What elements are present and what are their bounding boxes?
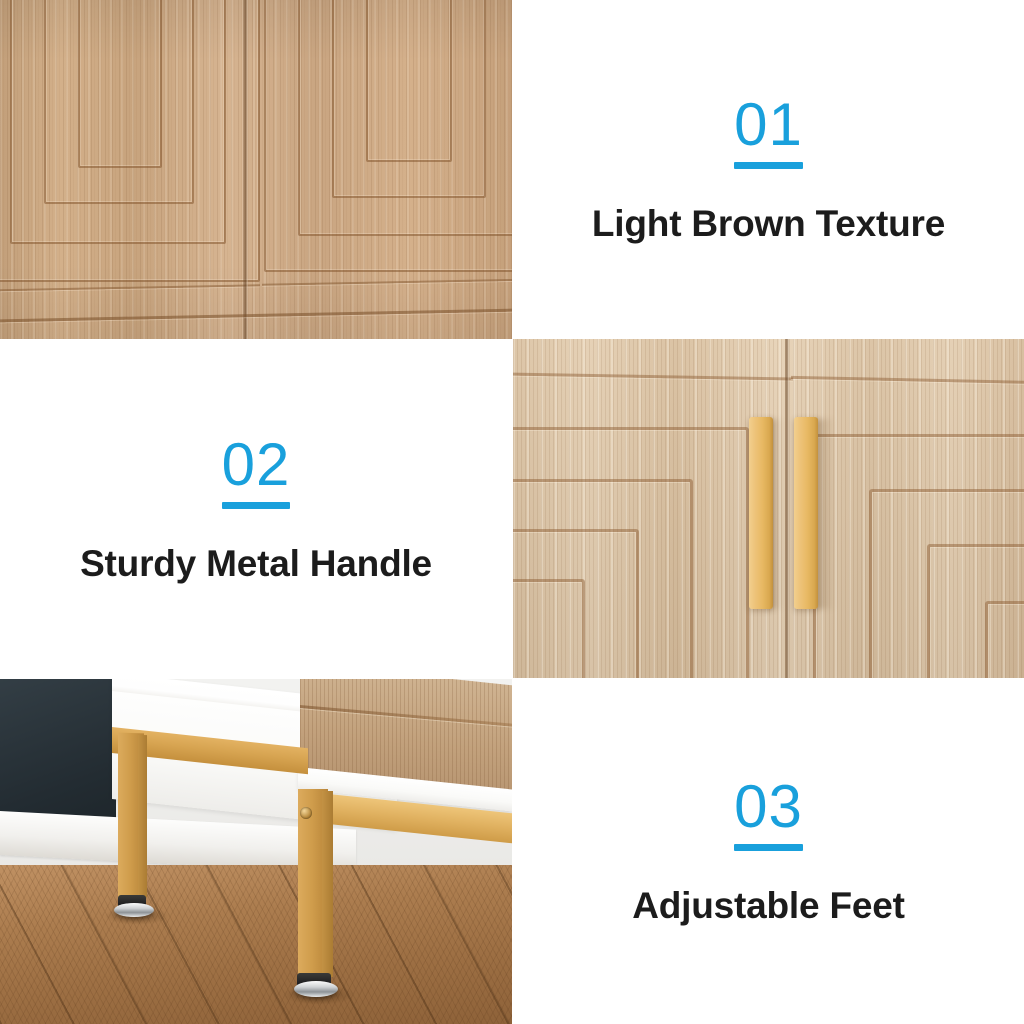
feature-number-block-01: 01 — [734, 95, 803, 169]
product-feature-infographic: 01 Light Brown Texture 02 Sturdy Metal H… — [0, 0, 1024, 1024]
cabinet-leg-front-side — [322, 791, 333, 977]
feature-title-02: Sturdy Metal Handle — [80, 543, 432, 584]
door-center-seam — [785, 339, 789, 678]
feature-number-underline-02 — [222, 502, 291, 509]
feature-title-01: Light Brown Texture — [592, 203, 945, 244]
handle-left — [749, 417, 773, 609]
handle-right-shadow — [816, 419, 834, 609]
wall-navy-accent — [0, 679, 116, 825]
feature-card-01: 01 Light Brown Texture — [513, 0, 1024, 339]
feature-number-03: 03 — [734, 777, 803, 837]
handle-groove-step4-right — [985, 601, 1024, 678]
feature-number-01: 01 — [734, 95, 803, 155]
handle-groove-step4-left — [513, 579, 585, 678]
feature-number-underline-03 — [734, 844, 803, 851]
feature-number-02: 02 — [222, 435, 291, 495]
herringbone-floor — [0, 865, 512, 1024]
feature-card-02: 02 Sturdy Metal Handle — [0, 340, 512, 679]
door-center-seam — [243, 0, 248, 339]
feature-number-underline-01 — [734, 162, 803, 169]
photo-cabinet-door-wood-texture — [0, 0, 512, 339]
leg-screw — [300, 807, 312, 819]
adjustable-foot-rear-disc — [114, 903, 154, 917]
door-groove-core-right — [366, 0, 452, 162]
handle-right — [794, 417, 818, 609]
handle-right-bevel — [794, 417, 818, 426]
feature-card-03: 03 Adjustable Feet — [513, 679, 1024, 1024]
door-groove-core-left — [78, 0, 162, 168]
feature-number-block-03: 03 — [734, 777, 803, 851]
feature-number-block-02: 02 — [222, 435, 291, 509]
adjustable-foot-front-disc — [294, 981, 338, 997]
feature-title-03: Adjustable Feet — [632, 885, 905, 926]
photo-adjustable-feet-closeup — [0, 679, 512, 1024]
cabinet-leg-rear-side — [138, 735, 147, 897]
photo-gold-bar-handle-closeup — [513, 339, 1024, 678]
handle-left-bevel — [749, 417, 773, 426]
